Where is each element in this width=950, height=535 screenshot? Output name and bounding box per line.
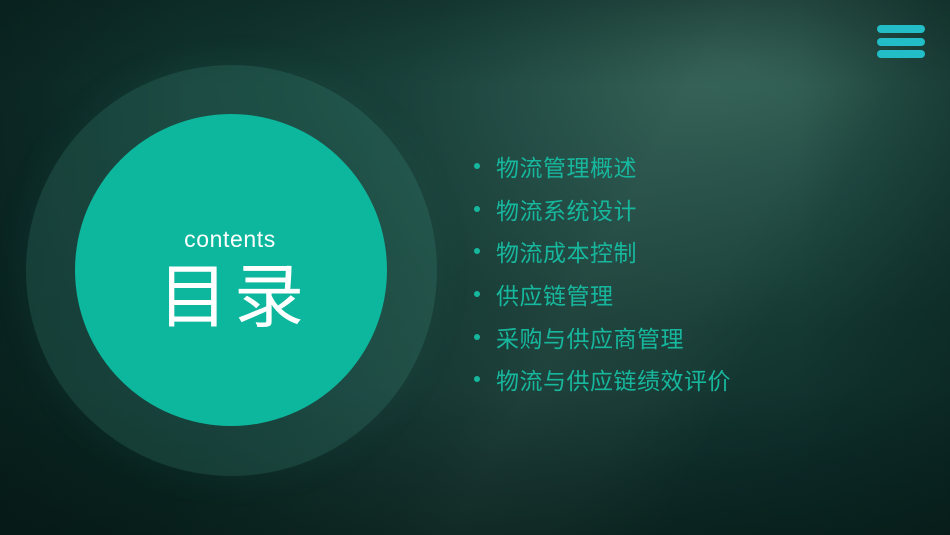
hamburger-menu-icon[interactable]: [877, 25, 925, 58]
toc-item-label: 物流与供应链绩效评价: [496, 362, 731, 396]
table-of-contents-list: 物流管理概述 物流系统设计 物流成本控制 供应链管理 采购与供应商管理 物流与供…: [470, 145, 900, 401]
bullet-dot-icon: [474, 376, 480, 382]
toc-item[interactable]: 采购与供应商管理: [470, 315, 900, 358]
hamburger-bar-middle: [877, 38, 925, 46]
toc-item[interactable]: 物流系统设计: [470, 188, 900, 231]
bullet-dot-icon: [474, 334, 480, 340]
bullet-dot-icon: [474, 163, 480, 169]
toc-item[interactable]: 供应链管理: [470, 273, 900, 316]
toc-item-label: 物流成本控制: [496, 234, 637, 268]
toc-item-label: 物流系统设计: [496, 192, 637, 226]
hamburger-bar-top: [877, 25, 925, 33]
hamburger-bar-bottom: [877, 50, 925, 58]
bullet-dot-icon: [474, 291, 480, 297]
contents-eyebrow-label: contents: [184, 228, 276, 251]
contents-circle: contents 目录: [75, 114, 387, 426]
toc-item-label: 采购与供应商管理: [496, 320, 684, 354]
bullet-dot-icon: [474, 206, 480, 212]
presentation-slide: contents 目录 物流管理概述 物流系统设计 物流成本控制 供应链管理 采…: [0, 0, 950, 535]
toc-item-label: 供应链管理: [496, 277, 614, 311]
toc-item[interactable]: 物流管理概述: [470, 145, 900, 188]
bullet-dot-icon: [474, 248, 480, 254]
contents-title-cn: 目录: [75, 262, 387, 332]
toc-item[interactable]: 物流与供应链绩效评价: [470, 358, 900, 401]
toc-item-label: 物流管理概述: [496, 149, 637, 183]
toc-item[interactable]: 物流成本控制: [470, 230, 900, 273]
